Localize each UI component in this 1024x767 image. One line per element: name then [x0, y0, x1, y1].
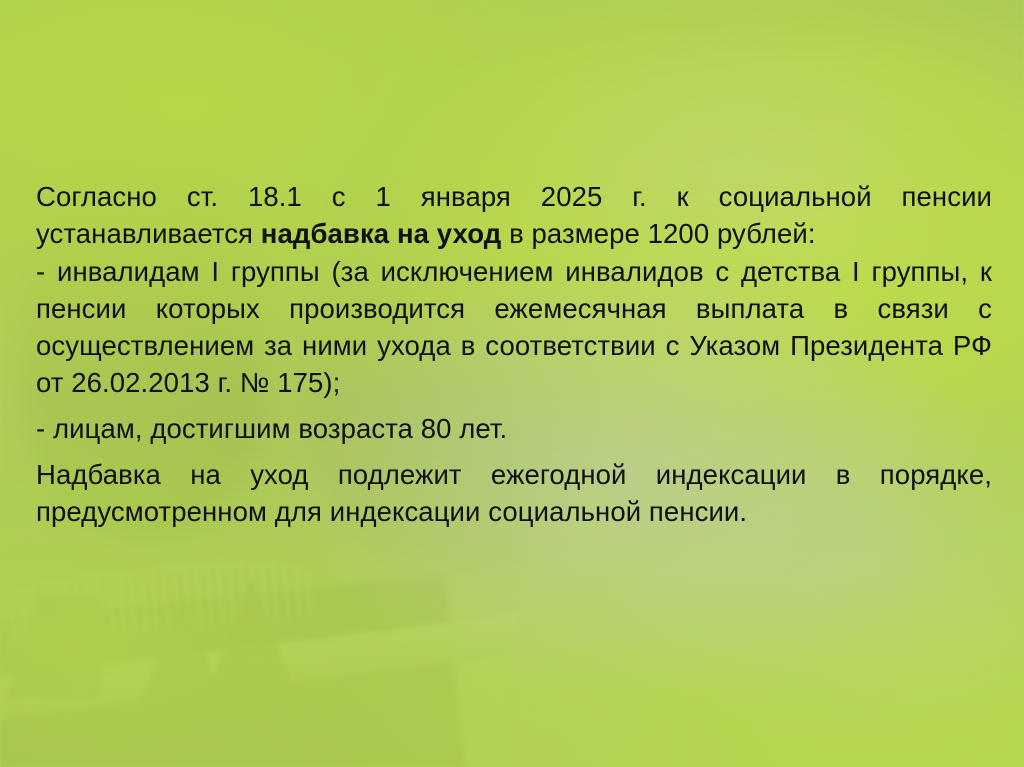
paragraph-intro-emphasis: надбавка на уход — [261, 218, 502, 249]
paragraph-annual-indexation: Надбавка на уход подлежит ежегодной инде… — [36, 456, 992, 530]
presentation-slide: Согласно ст. 18.1 с 1 января 2025 г. к с… — [0, 0, 1024, 767]
bullet-age-eighty: - лицам, достигшим возраста 80 лет. — [36, 410, 992, 447]
bullet-disability-group-one: - инвалидам I группы (за исключением инв… — [36, 253, 992, 401]
slide-body-text: Согласно ст. 18.1 с 1 января 2025 г. к с… — [36, 178, 992, 530]
paragraph-intro-tail: в размере 1200 рублей: — [501, 218, 815, 249]
paragraph-intro: Согласно ст. 18.1 с 1 января 2025 г. к с… — [36, 178, 992, 252]
